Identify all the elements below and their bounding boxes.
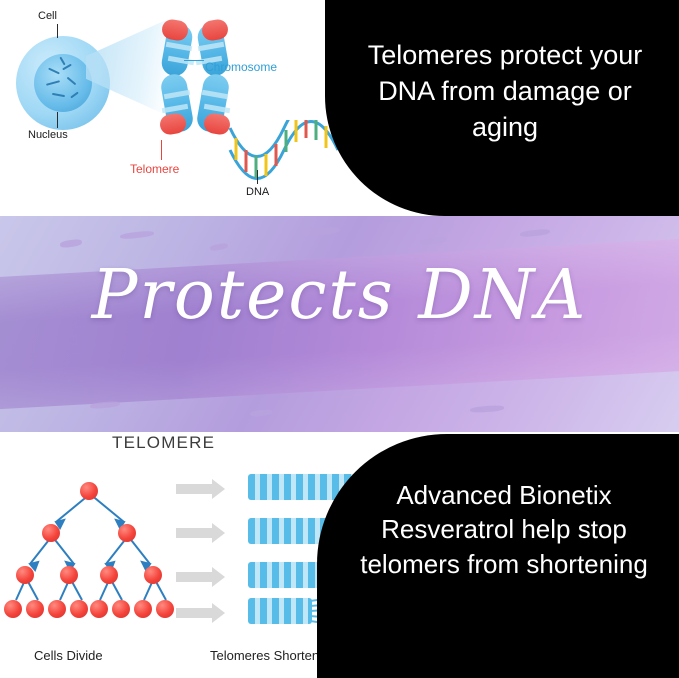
label-dna: DNA [246,186,269,198]
cell-leader-line [57,24,58,38]
label-telomere: Telomere [130,162,179,176]
telomere-header: TELOMERE [112,433,215,453]
label-chromosome: Chromosome [205,60,277,74]
banner-title: Protects DNA [0,256,679,335]
telomere-leader-line [161,140,162,160]
bottom-callout-text: Advanced Bionetix Resveratrol help stop … [351,478,657,581]
chromosome-leader-line [184,60,204,61]
product-infographic: Cell Nucleus Chromosome Telomere [0,0,679,678]
nucleus-leader-line [57,112,58,128]
label-cell: Cell [38,10,57,22]
top-panel: Cell Nucleus Chromosome Telomere [0,0,679,216]
bottom-panel: TELOMERE [0,432,679,678]
top-callout-text: Telomeres protect your DNA from damage o… [355,38,655,146]
label-nucleus: Nucleus [28,129,68,141]
dna-leader-line [257,170,258,184]
caption-telomeres-shorten: Telomeres Shorten [210,648,319,663]
top-callout: Telomeres protect your DNA from damage o… [325,0,679,216]
caption-cells-divide: Cells Divide [34,648,103,663]
bottom-callout: Advanced Bionetix Resveratrol help stop … [317,434,679,678]
